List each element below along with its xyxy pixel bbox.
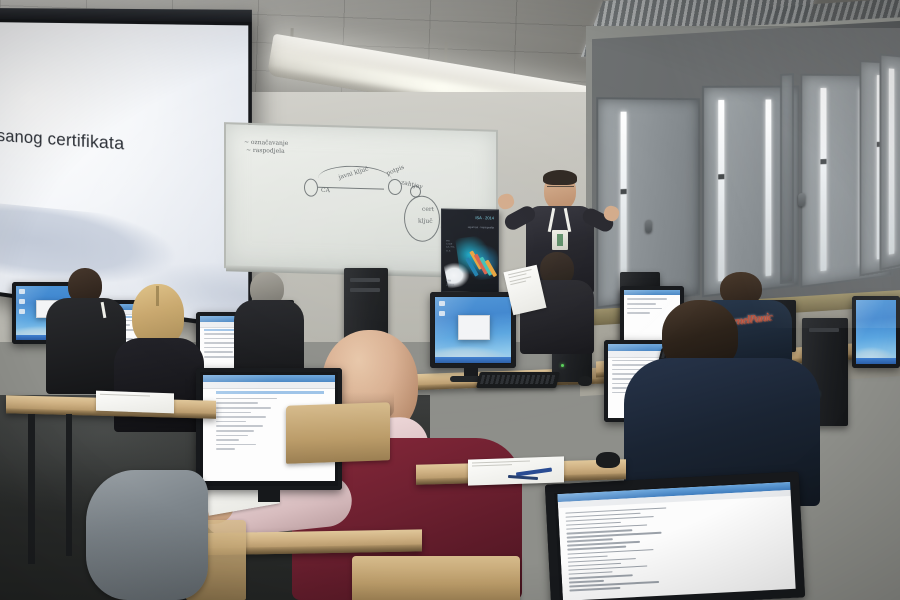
poster-footer-text: FER Zagreb [446, 280, 454, 287]
window-handle[interactable] [798, 193, 805, 207]
tower-power-led [561, 364, 564, 367]
chair-back[interactable] [286, 402, 390, 464]
monitor-stand [258, 490, 280, 502]
blind-clip [820, 159, 826, 164]
window-blind [766, 100, 772, 276]
whiteboard-note: ~ raspodjela [246, 147, 285, 155]
whiteboard-node [304, 178, 318, 196]
desk-leg [66, 414, 72, 556]
chair-back[interactable] [352, 556, 520, 600]
monitor-far-right[interactable] [852, 296, 900, 368]
poster-title: ISA · 2014 [475, 215, 494, 220]
attendee-right-navy-shirt [630, 300, 820, 500]
blind-clip [621, 189, 627, 194]
lecturer-hand-left [496, 192, 516, 211]
whiteboard-group-circle [404, 195, 440, 242]
poster-body-text: PKI X.509 CA / RA TLS [446, 240, 464, 253]
window-pane[interactable] [879, 53, 900, 270]
printed-handout [96, 391, 174, 414]
window-handle[interactable] [645, 220, 652, 234]
name-badge [552, 230, 568, 250]
window-blind [820, 88, 826, 271]
attendee-hair-part [156, 286, 159, 306]
monitor-bottom-right[interactable] [545, 471, 805, 600]
window-blind [718, 100, 724, 281]
lecturer-glasses [547, 186, 574, 191]
lecturer-hair [543, 170, 577, 185]
window-pane[interactable] [780, 73, 794, 284]
poster-subtitle: sigurnost · kriptografija [468, 226, 494, 230]
projection-screen-housing [0, 8, 252, 22]
monitor-bezel [545, 471, 805, 600]
mouse[interactable] [596, 452, 620, 468]
window-blind [621, 112, 627, 292]
whiteboard-note: ~ označavanje [244, 139, 288, 147]
conference-poster: ISA · 2014 sigurnost · kriptografija PKI… [441, 208, 499, 293]
tower-drive-bay [350, 278, 380, 282]
desk-leg [28, 414, 35, 564]
monitor-bezel [852, 296, 900, 368]
draped-jacket [86, 470, 208, 600]
mouse[interactable] [578, 376, 592, 386]
whiteboard-node [388, 179, 402, 195]
window-blind [889, 69, 894, 254]
blind-clip [718, 174, 724, 179]
slide-text: sobno potpisanog certifikata [0, 122, 226, 162]
photo-scene: sobno potpisanog certifikata ~ označavan… [0, 0, 900, 600]
tower-drive-bay [350, 288, 380, 292]
badge-accent [557, 234, 563, 246]
